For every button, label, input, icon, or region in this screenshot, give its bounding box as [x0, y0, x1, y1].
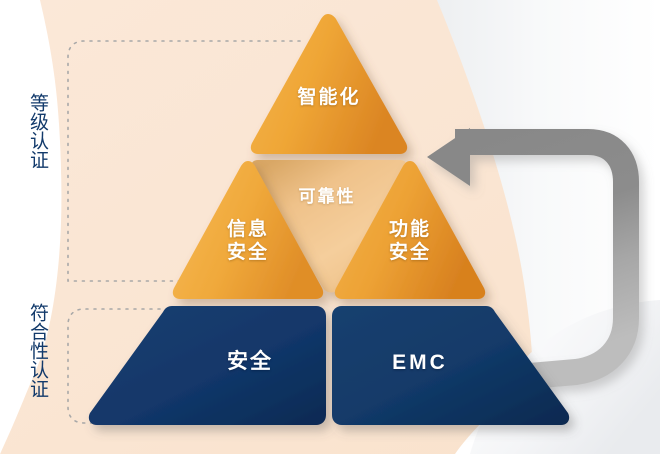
diagram-canvas: 等级认证 符合性认证 智能化 可靠性 信息 安全 功能 安全 安全 EMC	[0, 0, 660, 454]
shape-safety[interactable]	[89, 306, 326, 425]
shape-emc[interactable]	[332, 306, 569, 425]
shape-intelligent[interactable]	[251, 14, 407, 154]
pyramid-shapes	[0, 0, 660, 454]
